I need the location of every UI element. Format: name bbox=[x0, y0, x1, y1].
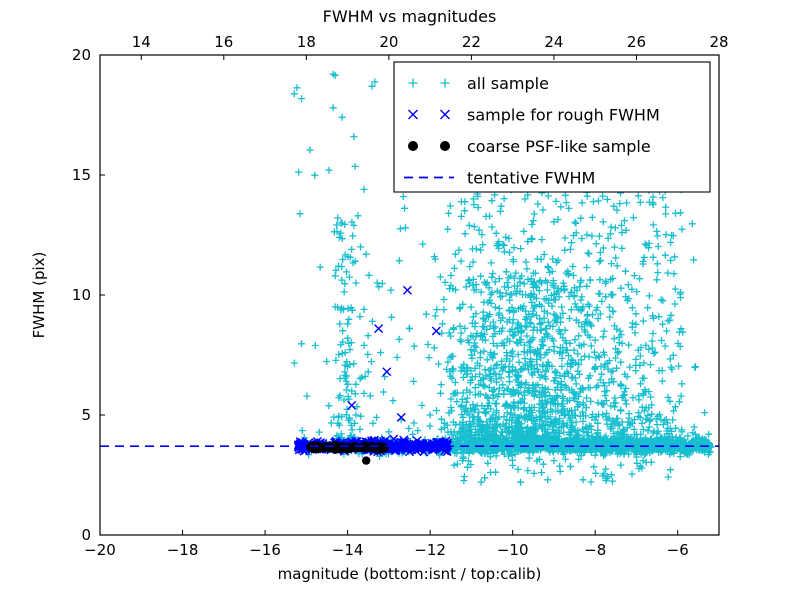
data-point bbox=[405, 425, 412, 432]
data-point bbox=[612, 254, 619, 261]
data-point bbox=[590, 198, 597, 205]
data-point bbox=[667, 257, 674, 264]
data-point bbox=[312, 342, 319, 349]
data-point bbox=[343, 386, 350, 393]
data-point bbox=[437, 274, 444, 281]
data-point bbox=[470, 259, 477, 266]
data-point bbox=[650, 330, 657, 337]
data-point bbox=[641, 254, 648, 261]
data-point bbox=[346, 346, 353, 353]
data-point bbox=[336, 320, 343, 327]
data-point bbox=[608, 292, 615, 299]
data-point bbox=[298, 95, 305, 102]
data-point bbox=[488, 224, 495, 231]
data-point bbox=[454, 461, 461, 468]
chart-title: FWHM vs magnitudes bbox=[323, 7, 497, 26]
data-point bbox=[335, 414, 342, 421]
data-point bbox=[468, 304, 475, 311]
data-point bbox=[401, 205, 408, 212]
data-point bbox=[580, 476, 587, 483]
data-point bbox=[361, 342, 368, 349]
data-point bbox=[599, 401, 606, 408]
data-point bbox=[452, 379, 459, 386]
data-point bbox=[366, 272, 373, 279]
data-point bbox=[571, 219, 578, 226]
data-point bbox=[365, 332, 372, 339]
data-point bbox=[571, 347, 578, 354]
data-point bbox=[593, 384, 600, 391]
data-point bbox=[534, 201, 541, 208]
data-point bbox=[471, 223, 478, 230]
data-point bbox=[450, 324, 457, 331]
series-sample-for-rough-fwhm bbox=[294, 286, 452, 456]
data-point bbox=[672, 210, 679, 217]
data-point bbox=[345, 316, 352, 323]
data-point bbox=[629, 304, 636, 311]
data-point bbox=[691, 364, 698, 371]
data-point bbox=[390, 397, 397, 404]
data-point bbox=[618, 285, 625, 292]
data-point bbox=[659, 194, 666, 201]
data-point bbox=[611, 335, 618, 342]
data-point bbox=[617, 359, 624, 366]
data-point bbox=[676, 329, 683, 336]
y-tick-label: 5 bbox=[81, 406, 91, 424]
data-point bbox=[432, 327, 440, 335]
data-point bbox=[483, 213, 490, 220]
data-point bbox=[409, 431, 416, 438]
data-point bbox=[350, 360, 357, 367]
data-point bbox=[658, 337, 665, 344]
data-point bbox=[595, 197, 602, 204]
data-point bbox=[524, 467, 531, 474]
y-tick-label: 15 bbox=[72, 166, 91, 184]
y-tick-label: 0 bbox=[81, 526, 91, 544]
data-point bbox=[671, 253, 678, 260]
data-point bbox=[520, 228, 527, 235]
data-point bbox=[583, 283, 590, 290]
data-point bbox=[496, 275, 503, 282]
data-point bbox=[452, 251, 459, 258]
data-point bbox=[600, 218, 607, 225]
data-point bbox=[596, 276, 603, 283]
data-point bbox=[588, 342, 595, 349]
data-point bbox=[588, 233, 595, 240]
data-point bbox=[573, 380, 580, 387]
data-point bbox=[481, 474, 488, 481]
data-point bbox=[598, 298, 605, 305]
data-point bbox=[444, 226, 451, 233]
data-point bbox=[440, 306, 447, 313]
data-point bbox=[368, 358, 375, 365]
data-point bbox=[291, 90, 298, 97]
data-point bbox=[598, 371, 605, 378]
data-point bbox=[295, 169, 302, 176]
data-point bbox=[596, 258, 603, 265]
data-point bbox=[383, 368, 391, 376]
data-point bbox=[523, 259, 530, 266]
data-point bbox=[567, 463, 574, 470]
data-point bbox=[339, 114, 346, 121]
data-point bbox=[507, 291, 514, 298]
data-point bbox=[578, 277, 585, 284]
data-point bbox=[423, 311, 430, 318]
data-point bbox=[316, 429, 323, 436]
data-point bbox=[551, 343, 558, 350]
data-point bbox=[654, 269, 661, 276]
data-point bbox=[540, 461, 547, 468]
x-tick-label-top: 18 bbox=[297, 33, 316, 51]
data-point bbox=[531, 470, 538, 477]
data-point bbox=[350, 133, 357, 140]
data-point bbox=[625, 281, 632, 288]
data-point bbox=[637, 199, 644, 206]
data-point bbox=[530, 217, 537, 224]
data-point bbox=[618, 245, 625, 252]
data-point bbox=[663, 231, 670, 238]
data-point bbox=[701, 409, 708, 416]
data-point bbox=[611, 244, 618, 251]
data-point bbox=[323, 358, 330, 365]
data-point bbox=[451, 462, 458, 469]
data-point bbox=[655, 243, 662, 250]
data-point bbox=[590, 463, 597, 470]
data-point bbox=[511, 244, 518, 251]
data-point bbox=[592, 470, 599, 477]
y-axis-label: FWHM (pix) bbox=[30, 252, 48, 339]
data-point bbox=[484, 356, 491, 363]
data-point bbox=[616, 200, 623, 207]
data-point bbox=[577, 215, 584, 222]
x-tick-label-bottom: −10 bbox=[497, 541, 529, 559]
data-point bbox=[461, 473, 468, 480]
data-point bbox=[493, 230, 500, 237]
data-point bbox=[533, 312, 540, 319]
data-point bbox=[369, 318, 376, 325]
data-point bbox=[626, 410, 633, 417]
data-point bbox=[576, 371, 583, 378]
data-point bbox=[538, 469, 545, 476]
data-point bbox=[299, 427, 306, 434]
data-point bbox=[589, 214, 596, 221]
data-point bbox=[530, 327, 537, 334]
data-point bbox=[344, 320, 351, 327]
data-point bbox=[396, 336, 403, 343]
data-point bbox=[566, 315, 573, 322]
data-point bbox=[647, 394, 654, 401]
data-point bbox=[476, 417, 483, 424]
data-point bbox=[492, 278, 499, 285]
data-point bbox=[611, 403, 618, 410]
data-point bbox=[311, 172, 318, 179]
data-point bbox=[363, 251, 370, 258]
data-point bbox=[575, 332, 582, 339]
data-point bbox=[325, 402, 332, 409]
data-point bbox=[496, 305, 503, 312]
data-point bbox=[635, 192, 642, 199]
data-point bbox=[648, 411, 655, 418]
data-point bbox=[501, 195, 508, 202]
data-point bbox=[484, 460, 491, 467]
data-point bbox=[677, 294, 684, 301]
data-point bbox=[558, 304, 565, 311]
data-point bbox=[562, 327, 569, 334]
data-point bbox=[617, 462, 624, 469]
data-point bbox=[506, 378, 513, 385]
data-point bbox=[610, 203, 617, 210]
data-point bbox=[545, 193, 552, 200]
data-point bbox=[375, 283, 382, 290]
data-point bbox=[560, 280, 567, 287]
data-point bbox=[588, 478, 595, 485]
data-point bbox=[400, 193, 407, 200]
data-point bbox=[586, 250, 593, 257]
data-point bbox=[632, 356, 639, 363]
data-point bbox=[303, 393, 310, 400]
data-point bbox=[510, 316, 517, 323]
data-point bbox=[489, 270, 496, 277]
data-point bbox=[667, 466, 674, 473]
data-point bbox=[337, 375, 344, 382]
data-point bbox=[419, 241, 426, 248]
data-point bbox=[630, 214, 637, 221]
data-point bbox=[586, 353, 593, 360]
data-point bbox=[375, 325, 383, 333]
data-point bbox=[663, 328, 670, 335]
data-point bbox=[662, 210, 669, 217]
x-tick-label-bottom: −6 bbox=[667, 541, 689, 559]
data-point bbox=[549, 256, 556, 263]
data-point bbox=[414, 427, 421, 434]
data-point bbox=[438, 381, 445, 388]
data-point bbox=[612, 224, 619, 231]
data-point bbox=[632, 367, 639, 374]
data-point bbox=[367, 392, 374, 399]
data-point bbox=[445, 210, 452, 217]
data-point bbox=[515, 466, 522, 473]
data-point bbox=[550, 457, 557, 464]
data-point bbox=[505, 235, 512, 242]
data-point bbox=[591, 349, 598, 356]
data-point bbox=[601, 328, 608, 335]
data-point bbox=[544, 476, 551, 483]
data-point bbox=[458, 213, 465, 220]
legend-label: coarse PSF-like sample bbox=[467, 137, 651, 156]
x-tick-label-top: 14 bbox=[132, 33, 151, 51]
data-point bbox=[411, 420, 418, 427]
data-point bbox=[466, 222, 473, 229]
data-point bbox=[587, 276, 594, 283]
data-point bbox=[662, 343, 669, 350]
data-point bbox=[632, 310, 639, 317]
x-axis-label: magnitude (bottom:isnt / top:calib) bbox=[278, 565, 542, 583]
data-point bbox=[369, 420, 376, 427]
data-point bbox=[397, 225, 404, 232]
data-point bbox=[456, 247, 463, 254]
data-point bbox=[352, 163, 359, 170]
data-point bbox=[446, 329, 453, 336]
data-point bbox=[377, 349, 384, 356]
data-point bbox=[492, 304, 499, 311]
data-point bbox=[488, 274, 495, 281]
data-point bbox=[655, 313, 662, 320]
data-point bbox=[648, 459, 655, 466]
data-point bbox=[585, 250, 592, 257]
data-point bbox=[461, 198, 468, 205]
x-tick-label-bottom: −12 bbox=[414, 541, 446, 559]
x-tick-label-bottom: −8 bbox=[584, 541, 606, 559]
data-point bbox=[523, 265, 530, 272]
data-point bbox=[354, 212, 361, 219]
data-point bbox=[617, 407, 624, 414]
data-point bbox=[348, 401, 356, 409]
data-point bbox=[635, 409, 642, 416]
x-tick-label-top: 28 bbox=[709, 33, 728, 51]
data-point bbox=[622, 268, 629, 275]
data-point bbox=[584, 231, 591, 238]
data-point bbox=[426, 423, 433, 430]
data-point bbox=[568, 374, 575, 381]
data-point bbox=[361, 390, 368, 397]
data-point bbox=[570, 272, 577, 279]
data-point bbox=[440, 296, 447, 303]
data-point bbox=[477, 391, 484, 398]
data-point bbox=[544, 287, 551, 294]
legend-label: tentative FWHM bbox=[467, 169, 595, 188]
data-point bbox=[357, 413, 364, 420]
y-tick-label: 20 bbox=[72, 46, 91, 64]
data-point bbox=[433, 407, 440, 414]
data-point bbox=[499, 381, 506, 388]
data-point bbox=[642, 241, 649, 248]
data-point bbox=[678, 393, 685, 400]
data-point bbox=[654, 421, 661, 428]
data-point bbox=[338, 263, 345, 270]
data-point bbox=[431, 344, 438, 351]
data-point bbox=[437, 390, 444, 397]
data-point bbox=[629, 471, 636, 478]
data-point bbox=[296, 210, 303, 217]
data-point bbox=[583, 264, 590, 271]
data-point bbox=[477, 349, 484, 356]
legend-label: sample for rough FWHM bbox=[467, 106, 660, 125]
data-point bbox=[587, 398, 594, 405]
data-point bbox=[600, 333, 607, 340]
data-point bbox=[604, 196, 611, 203]
x-tick-label-top: 26 bbox=[627, 33, 646, 51]
data-point bbox=[501, 248, 508, 255]
data-point bbox=[557, 203, 564, 210]
data-point bbox=[517, 245, 524, 252]
data-point bbox=[606, 304, 613, 311]
data-point bbox=[418, 402, 425, 409]
figure-canvas: −20−18−16−14−12−10−8−6141618202224262805… bbox=[0, 0, 800, 600]
y-tick-label: 10 bbox=[72, 286, 91, 304]
data-point bbox=[480, 309, 487, 316]
data-point bbox=[433, 306, 440, 313]
data-point bbox=[608, 224, 615, 231]
data-point bbox=[497, 208, 504, 215]
data-point bbox=[516, 359, 523, 366]
data-point bbox=[606, 314, 613, 321]
data-point bbox=[387, 287, 394, 294]
data-point bbox=[545, 264, 552, 271]
data-point bbox=[654, 260, 661, 267]
data-point bbox=[462, 230, 469, 237]
legend-marker-dot bbox=[408, 141, 418, 151]
data-point bbox=[572, 300, 579, 307]
x-tick-label-bottom: −14 bbox=[332, 541, 364, 559]
data-point bbox=[572, 336, 579, 343]
data-point bbox=[466, 263, 473, 270]
data-point bbox=[403, 286, 411, 294]
data-point bbox=[482, 281, 489, 288]
data-point bbox=[348, 246, 355, 253]
data-point bbox=[385, 428, 392, 435]
data-point bbox=[448, 353, 455, 360]
data-point bbox=[481, 383, 488, 390]
data-point bbox=[506, 249, 513, 256]
data-point bbox=[492, 323, 499, 330]
data-point bbox=[307, 147, 314, 154]
data-point bbox=[557, 468, 564, 475]
data-point bbox=[572, 220, 579, 227]
data-point bbox=[492, 469, 499, 476]
data-point bbox=[394, 354, 401, 361]
data-point bbox=[402, 224, 409, 231]
data-point bbox=[562, 235, 569, 242]
data-point bbox=[658, 296, 665, 303]
data-point bbox=[461, 207, 468, 214]
data-point bbox=[411, 343, 418, 350]
data-point bbox=[640, 318, 647, 325]
data-point bbox=[349, 232, 356, 239]
data-point bbox=[649, 338, 656, 345]
data-point bbox=[659, 378, 666, 385]
data-point bbox=[380, 389, 387, 396]
data-point bbox=[679, 226, 686, 233]
data-point bbox=[447, 203, 454, 210]
data-point bbox=[583, 394, 590, 401]
data-point bbox=[352, 381, 359, 388]
data-point bbox=[531, 210, 538, 217]
data-point bbox=[670, 270, 677, 277]
data-point bbox=[439, 320, 446, 327]
data-point bbox=[539, 206, 546, 213]
data-point bbox=[334, 215, 341, 222]
x-tick-label-bottom: −16 bbox=[249, 541, 281, 559]
data-point bbox=[478, 479, 485, 486]
data-point bbox=[596, 233, 603, 240]
data-point bbox=[503, 268, 510, 275]
data-point bbox=[482, 410, 489, 417]
data-point bbox=[361, 186, 368, 193]
data-point bbox=[473, 245, 480, 252]
data-point bbox=[650, 350, 657, 357]
data-point bbox=[482, 366, 489, 373]
data-point bbox=[396, 257, 403, 264]
series-coarse-psf-like-sample bbox=[306, 441, 389, 465]
data-point bbox=[352, 412, 359, 419]
x-tick-label-bottom: −18 bbox=[167, 541, 199, 559]
data-point bbox=[488, 259, 495, 266]
data-point bbox=[665, 474, 672, 481]
data-point bbox=[584, 193, 591, 200]
data-point bbox=[646, 424, 653, 431]
legend-label: all sample bbox=[467, 74, 549, 93]
data-point bbox=[447, 272, 454, 279]
data-point bbox=[647, 361, 654, 368]
